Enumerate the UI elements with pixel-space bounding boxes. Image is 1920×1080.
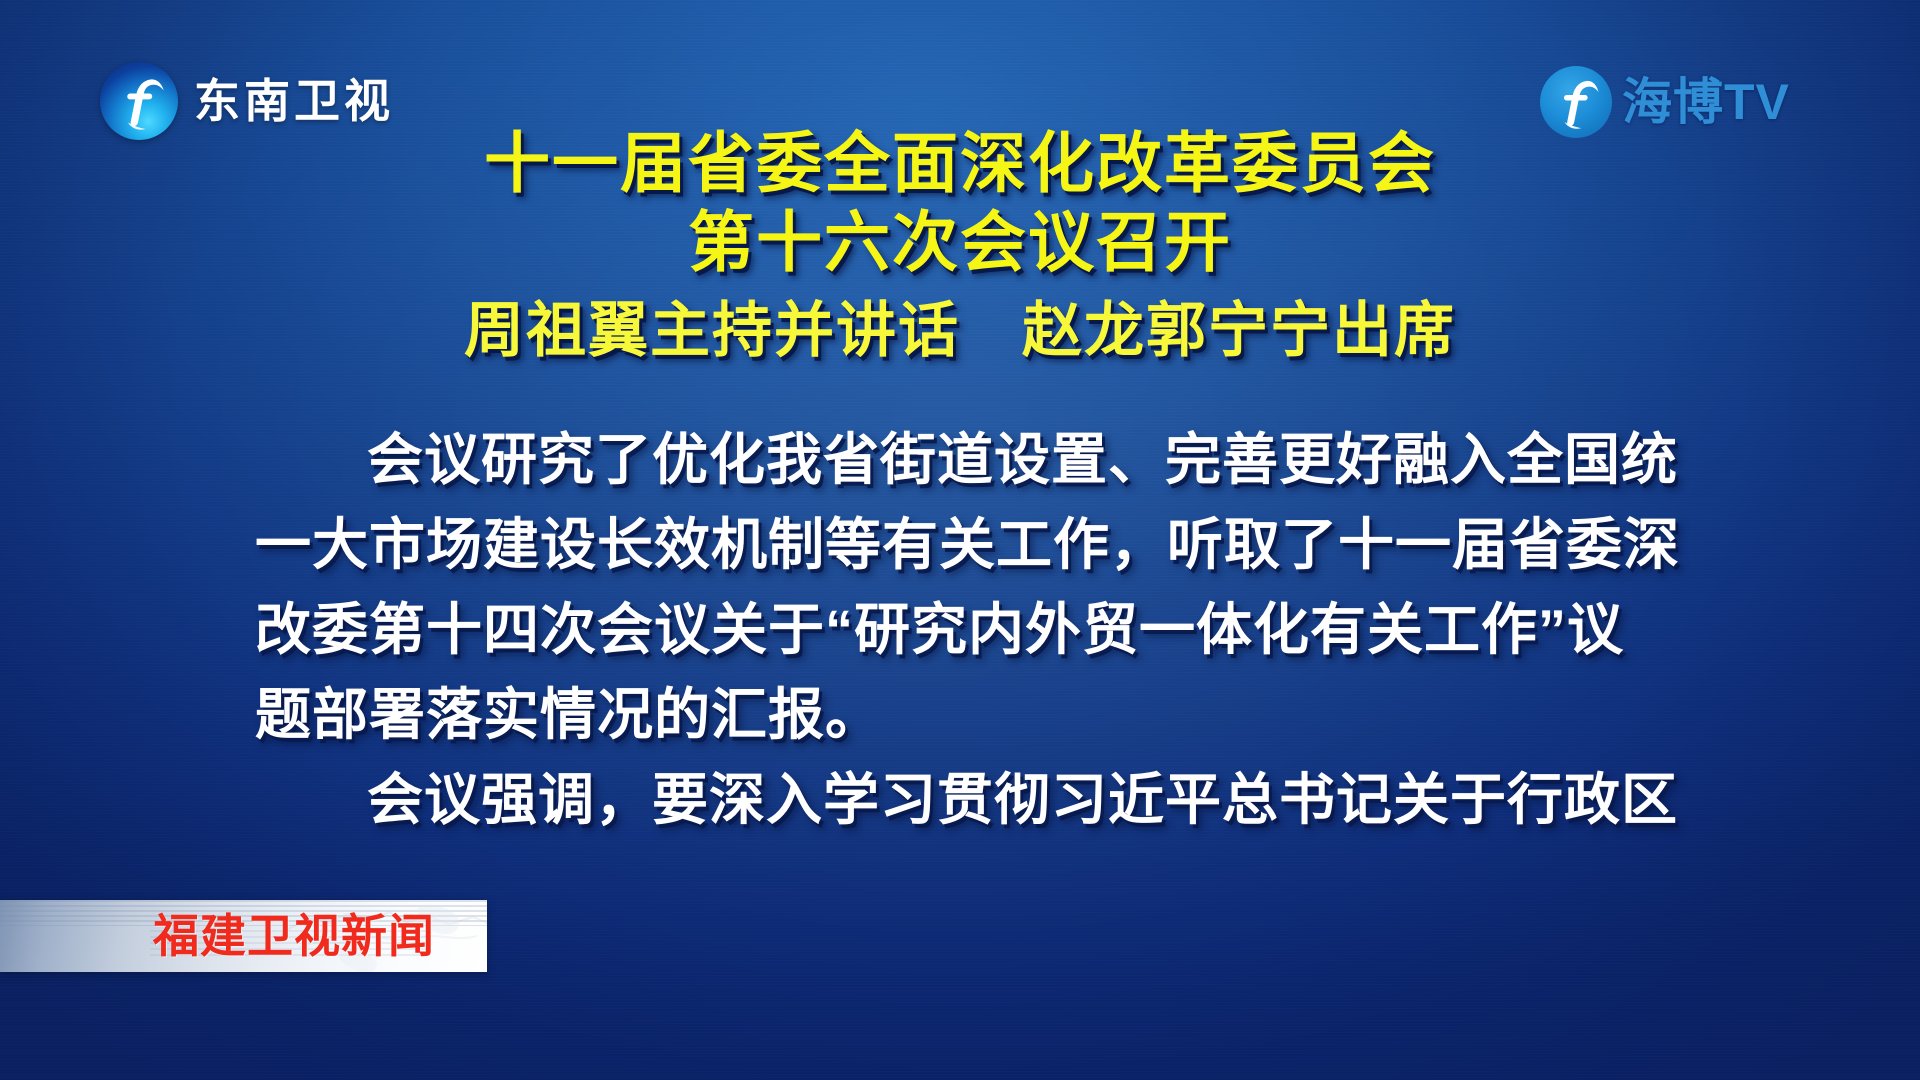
southeast-tv-label: 东南卫视 — [194, 78, 394, 124]
haibo-tv-logo: 海博TV — [1540, 66, 1790, 138]
body-line: 题部署落实情况的汇报。 — [255, 687, 1695, 743]
headline-subline: 周祖翼主持并讲话 赵龙郭宁宁出席 — [0, 301, 1920, 361]
headline-line-1: 十一届省委全面深化改革委员会 — [0, 130, 1920, 196]
program-banner: 福建卫视新闻 — [0, 900, 487, 972]
haibo-tv-label: 海博TV — [1622, 77, 1790, 127]
broadcast-screen: 东南卫视 海博TV 十一届省委全面深化改革委员会 第十六次会议召开 周祖翼主持并… — [0, 0, 1920, 1080]
body-line: 会议研究了优化我省街道设置、完善更好融入全国统 — [255, 432, 1695, 488]
haibo-f-orb-icon — [1540, 66, 1612, 138]
f-glyph-icon — [1540, 66, 1612, 138]
f-bird-glyph-icon — [100, 62, 178, 140]
body-text-block: 会议研究了优化我省街道设置、完善更好融入全国统 一大市场建设长效机制等有关工作，… — [255, 432, 1695, 857]
headline-block: 十一届省委全面深化改革委员会 第十六次会议召开 周祖翼主持并讲话 赵龙郭宁宁出席 — [0, 130, 1920, 361]
body-line: 改委第十四次会议关于“研究内外贸一体化有关工作”议 — [255, 602, 1695, 658]
headline-line-2: 第十六次会议召开 — [0, 209, 1920, 275]
body-line: 一大市场建设长效机制等有关工作，听取了十一届省委深 — [255, 517, 1695, 573]
program-banner-title: 福建卫视新闻 — [153, 913, 487, 959]
southeast-f-orb-icon — [100, 62, 178, 140]
body-line: 会议强调，要深入学习贯彻习近平总书记关于行政区 — [255, 772, 1695, 828]
southeast-tv-logo: 东南卫视 — [100, 62, 394, 140]
